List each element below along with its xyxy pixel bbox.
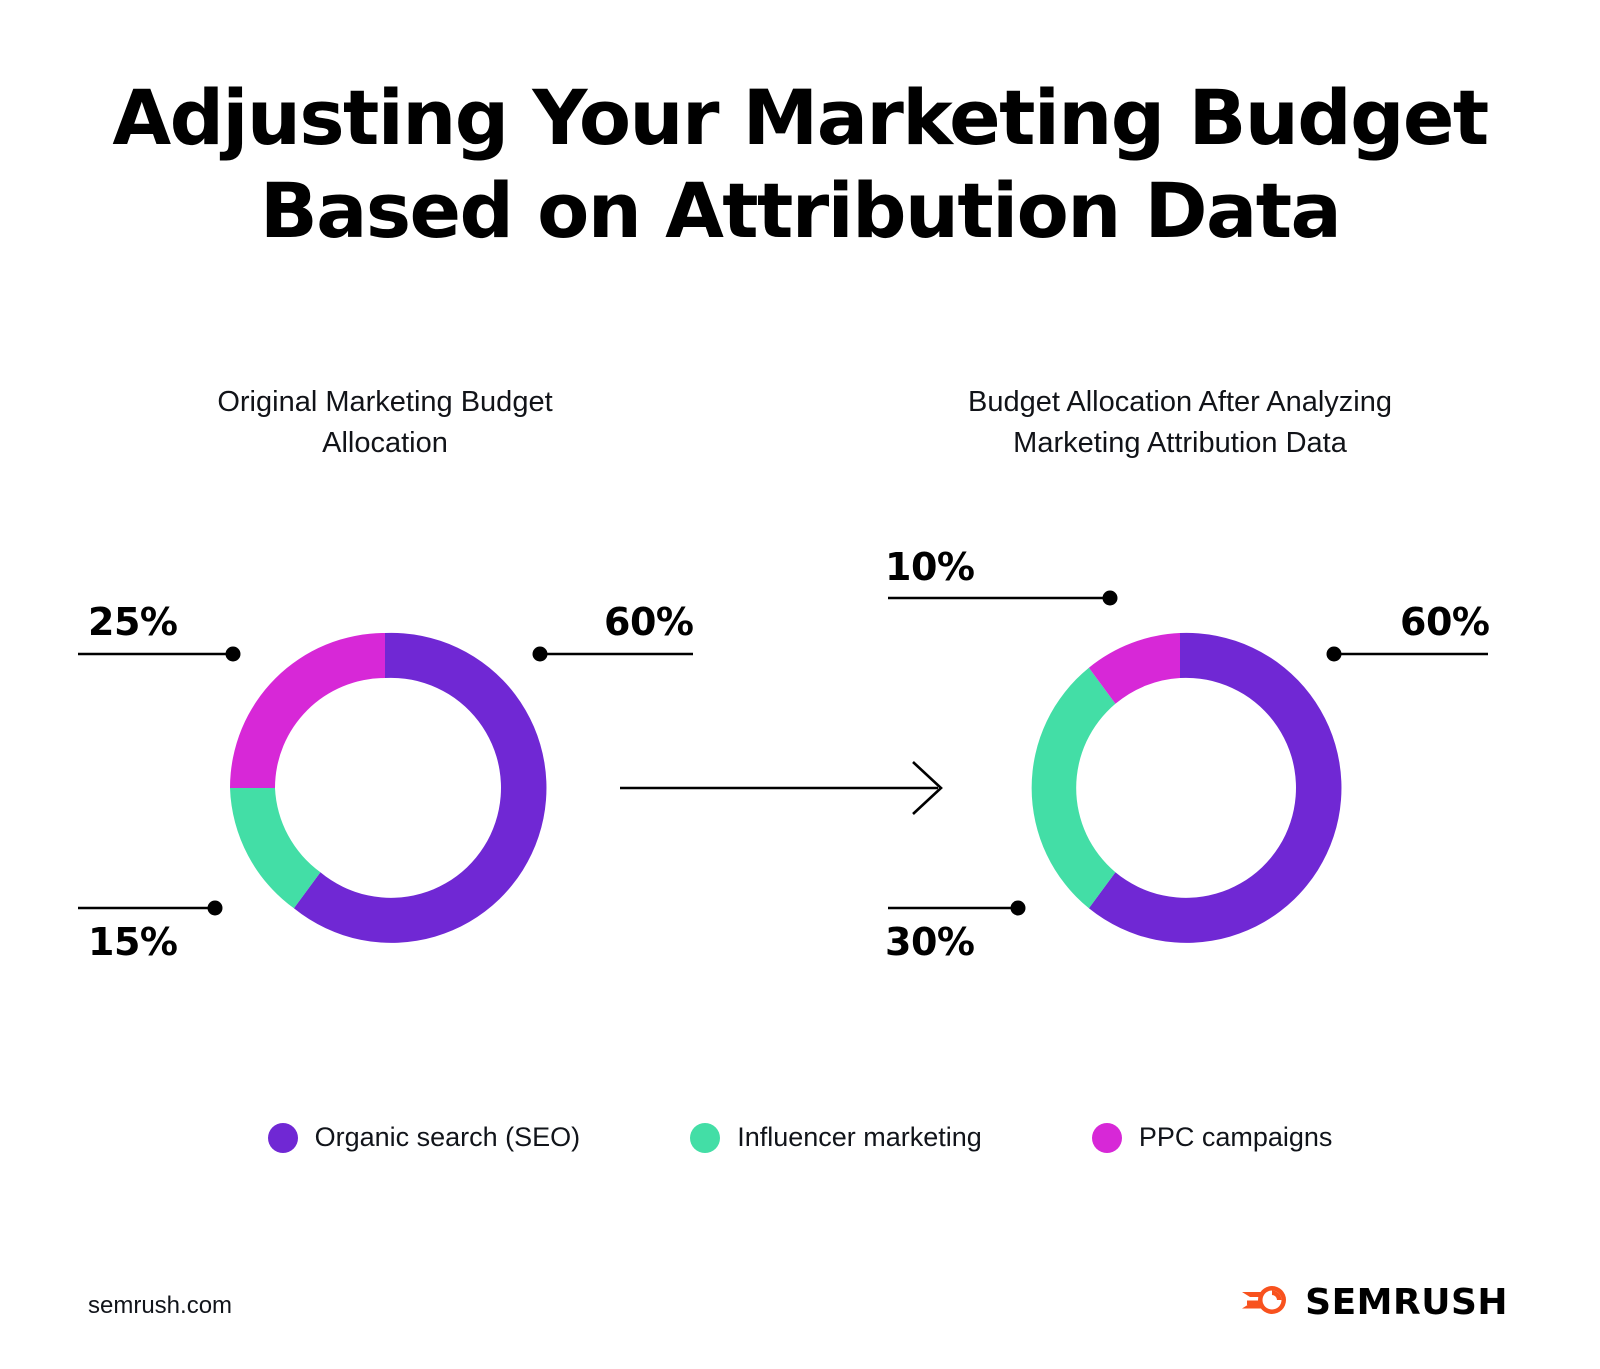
legend-label-influencer-marketing: Influencer marketing [737,1122,982,1153]
legend-item-influencer-marketing[interactable]: Influencer marketing [690,1122,982,1153]
leader-line-original-organic-search [533,647,694,662]
legend-item-ppc-campaigns[interactable]: PPC campaigns [1092,1122,1333,1153]
donut-chart-original [78,633,693,943]
pct-label-after-ppc-campaigns: 10% [885,545,974,589]
donut-segment-influencer-marketing-after[interactable] [1032,668,1116,909]
chart-legend: Organic search (SEO) Influencer marketin… [0,1122,1600,1153]
donut-segment-ppc-campaigns-original[interactable] [230,633,385,788]
pct-label-original-influencer-marketing: 15% [88,920,177,964]
leader-line-after-influencer-marketing [888,901,1026,916]
semrush-wordmark: SEMRUSH [1305,1285,1508,1321]
donut-charts-svg [0,0,1600,1369]
legend-swatch-influencer-icon [690,1123,720,1153]
leader-line-original-ppc-campaigns [78,647,241,662]
legend-swatch-organic-search-icon [268,1123,298,1153]
leader-line-after-ppc-campaigns [888,591,1118,606]
donut-segment-influencer-marketing-original[interactable] [230,788,320,908]
transition-arrow-icon [620,762,941,814]
pct-label-after-influencer-marketing: 30% [885,920,974,964]
semrush-logo[interactable]: SEMRUSH [1241,1283,1508,1322]
legend-label-organic-search: Organic search (SEO) [315,1122,581,1153]
footer-source-url[interactable]: semrush.com [88,1292,232,1320]
pct-label-original-organic-search: 60% [604,600,693,644]
leader-line-original-influencer-marketing [78,901,223,916]
pct-label-after-organic-search: 60% [1400,600,1489,644]
legend-label-ppc-campaigns: PPC campaigns [1139,1122,1333,1153]
leader-line-after-organic-search [1327,647,1489,662]
legend-item-organic-search[interactable]: Organic search (SEO) [268,1122,581,1153]
pct-label-original-ppc-campaigns: 25% [88,600,177,644]
semrush-comet-icon [1241,1283,1289,1322]
donut-chart-after-attribution [888,591,1488,943]
legend-swatch-ppc-icon [1092,1123,1122,1153]
